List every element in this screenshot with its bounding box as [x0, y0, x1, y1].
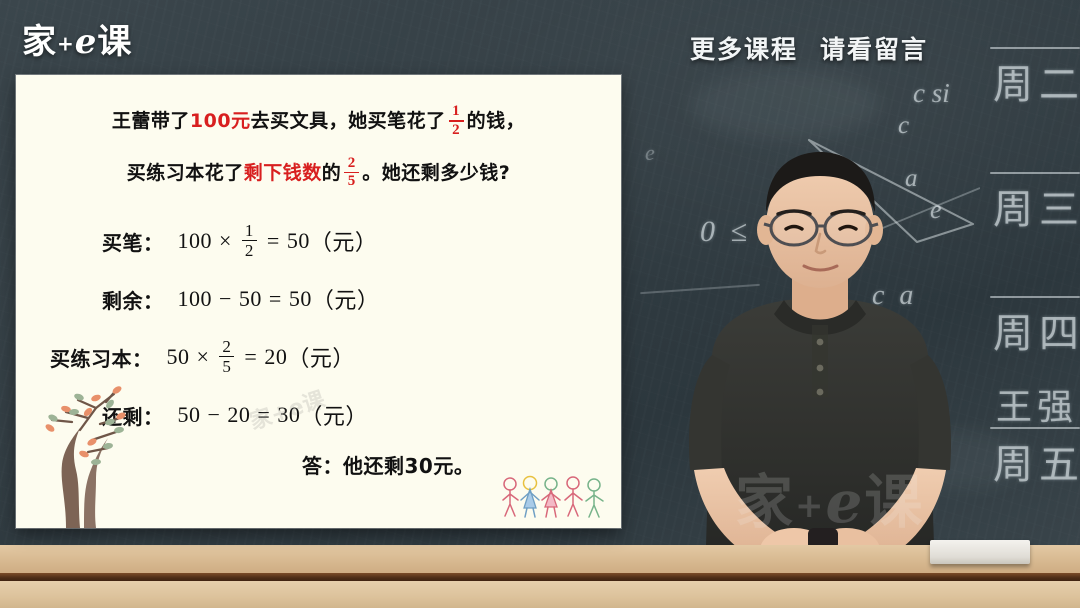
logo-plus-icon: + — [57, 32, 75, 56]
problem-l1-part3: 的钱， — [467, 112, 526, 132]
step-0-operand-a: 100 — [178, 228, 213, 254]
logo-char-e: e — [75, 22, 98, 62]
step-3-operand-b: 20 — [227, 402, 250, 428]
problem-line-2: 买练习本花了剩下钱数的25。她还剩多少钱? — [40, 157, 597, 191]
video-frame: 周二 周三 周四 王强 周五 0 ≤ q c si c a b e c a e — [0, 0, 1080, 608]
step-2-fraction: 25 — [219, 338, 234, 376]
problem-l1-fraction: 12 — [449, 104, 464, 138]
header-promo-line2: 请看留言 — [820, 35, 928, 64]
step-2-unit: （元） — [287, 341, 355, 373]
problem-l2-highlight: 剩下钱数 — [244, 164, 322, 184]
step-1-operator: − — [219, 286, 232, 312]
problem-l2-part1: 买练习本花了 — [127, 164, 244, 184]
step-1-equals: = — [269, 286, 282, 312]
step-1-unit: （元） — [312, 283, 380, 315]
step-3-expression: 50 − 20 = 30 （元） — [178, 399, 368, 431]
chalk-rule-3 — [990, 296, 1080, 298]
header-promo-text: 更多课程请看留言 — [690, 30, 928, 66]
step-3-operator: − — [208, 402, 221, 428]
step-2-result: 20 — [264, 344, 287, 370]
problem-l2-part2: 的 — [322, 164, 342, 184]
step-2-operand-a: 50 — [167, 344, 190, 370]
chalk-rule-1 — [990, 47, 1080, 49]
problem-l1-part2: 去买文具，她买笔花了 — [251, 112, 446, 132]
step-2-operator: × — [197, 344, 210, 370]
step-0-fraction: 12 — [242, 222, 257, 260]
problem-l2-fraction: 25 — [344, 156, 359, 190]
problem-l2-part3: 。她还剩多少钱? — [362, 164, 510, 184]
step-0-unit: （元） — [310, 225, 378, 257]
problem-statement: 王蕾带了100元去买文具，她买笔花了12的钱， 买练习本花了剩下钱数的25。她还… — [16, 75, 621, 190]
problem-l1-part1: 王蕾带了 — [112, 112, 190, 132]
solution-step-0: 买笔： 100 × 12 = 50 （元） — [102, 212, 621, 270]
logo-char-ke: 课 — [97, 22, 132, 62]
step-1-label: 剩余： — [102, 285, 164, 314]
step-0-operator: × — [219, 228, 232, 254]
brand-logo: 家+e课 — [22, 14, 132, 63]
solution-step-3: 还剩： 50 − 20 = 30 （元） — [102, 386, 621, 444]
logo-char-jia: 家 — [22, 22, 57, 62]
chalk-ledge-top — [0, 545, 1080, 575]
step-0-expression: 100 × 12 = 50 （元） — [178, 223, 378, 261]
step-0-label: 买笔： — [102, 227, 164, 256]
step-3-equals: = — [257, 402, 270, 428]
step-2-expression: 50 × 25 = 20 （元） — [167, 339, 355, 377]
step-1-result: 50 — [289, 286, 312, 312]
chalk-rule-2 — [990, 172, 1080, 174]
step-1-operand-b: 50 — [239, 286, 262, 312]
step-0-result: 50 — [287, 228, 310, 254]
chalk-rule-4 — [990, 427, 1080, 429]
step-1-operand-a: 100 — [178, 286, 213, 312]
step-3-unit: （元） — [300, 399, 368, 431]
board-eraser — [930, 540, 1030, 564]
problem-l1-highlight: 100元 — [190, 112, 251, 132]
step-3-result: 30 — [277, 402, 300, 428]
header-promo-line1: 更多课程 — [690, 35, 798, 64]
children-clipart-icon — [497, 474, 607, 520]
decorative-tree-icon — [22, 378, 142, 528]
step-2-equals: = — [244, 344, 257, 370]
lesson-slide: 家+e课 王蕾带了100元去买文具，她买笔花了12的钱， 买练习本花了剩下钱数的… — [16, 75, 621, 528]
problem-line-1: 王蕾带了100元去买文具，她买笔花了12的钱， — [40, 105, 597, 139]
chalk-ledge-bottom — [0, 581, 1080, 608]
step-3-operand-a: 50 — [178, 402, 201, 428]
step-2-label: 买练习本： — [50, 343, 153, 372]
step-0-equals: = — [267, 228, 280, 254]
step-1-expression: 100 − 50 = 50 （元） — [178, 283, 380, 315]
solution-step-1: 剩余： 100 − 50 = 50 （元） — [102, 270, 621, 328]
